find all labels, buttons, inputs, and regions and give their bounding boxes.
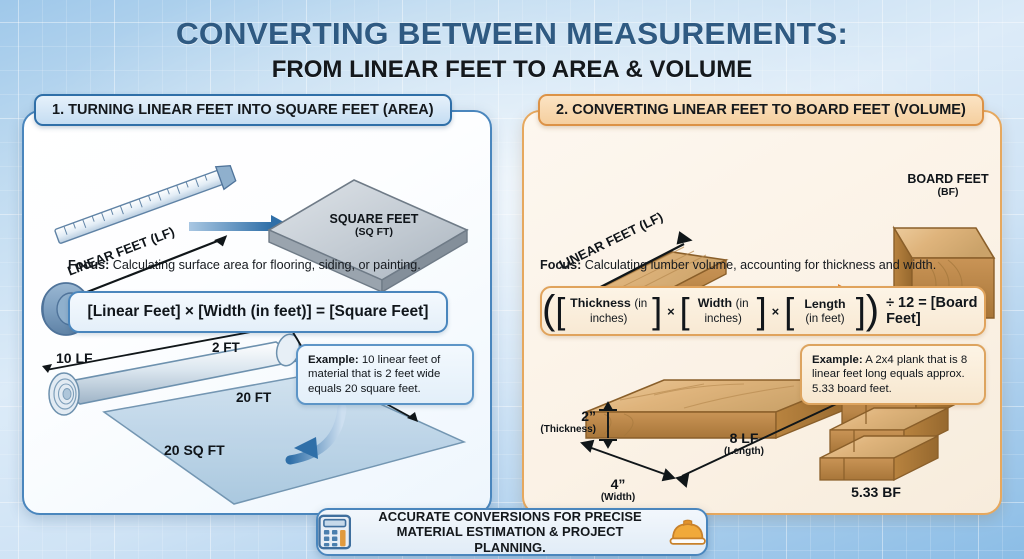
label-thickness: 2” (Thickness) bbox=[530, 408, 596, 435]
calculator-icon bbox=[318, 514, 351, 550]
panel-header-right: 2. CONVERTING LINEAR FEET TO BOARD FEET … bbox=[538, 94, 984, 126]
formula-term-width: [ Width (in inches) ] bbox=[680, 296, 767, 325]
label-2-ft: 2 FT bbox=[212, 340, 240, 355]
label-20-ft: 20 FT bbox=[236, 390, 271, 405]
page-title-main: CONVERTING BETWEEN MEASUREMENTS: bbox=[0, 16, 1024, 52]
formula-tail: ÷ 12 = [Board Feet] bbox=[879, 295, 984, 327]
focus-line-right: Focus: Calculating lumber volume, accoun… bbox=[540, 258, 936, 272]
formula-term-thickness: [ Thickness (in inches) ] bbox=[555, 296, 662, 325]
footer-badge: ACCURATE CONVERSIONS FOR PRECISE MATERIA… bbox=[316, 508, 708, 556]
formula-op-2: × bbox=[767, 304, 785, 319]
footer-text: ACCURATE CONVERSIONS FOR PRECISE MATERIA… bbox=[361, 509, 658, 556]
example-callout-area: Example: 10 linear feet of material that… bbox=[296, 344, 474, 405]
formula-area: [Linear Feet] × [Width (in feet)] = [Squ… bbox=[68, 291, 448, 333]
label-board-feet: BOARD FEET (BF) bbox=[896, 172, 1000, 198]
label-20-sq-ft: 20 SQ FT bbox=[164, 442, 225, 458]
formula-board-feet: ( [ Thickness (in inches) ] × [ Width (i… bbox=[540, 286, 986, 336]
formula-op-1: × bbox=[662, 304, 680, 319]
label-square-feet: SQUARE FEET (SQ FT) bbox=[324, 212, 424, 238]
hard-hat-icon bbox=[669, 515, 706, 549]
example-callout-volume: Example: A 2x4 plank that is 8 linear fe… bbox=[800, 344, 986, 405]
curved-arrow-blue bbox=[290, 408, 342, 460]
infographic-header: CONVERTING BETWEEN MEASUREMENTS: FROM LI… bbox=[0, 16, 1024, 84]
label-10-lf: 10 LF bbox=[56, 350, 93, 366]
formula-term-length: [ Length (in feet) ] bbox=[784, 297, 866, 326]
label-length: 8 LF (Length) bbox=[706, 430, 782, 457]
focus-line-left: Focus: Calculating surface area for floo… bbox=[68, 258, 421, 272]
page-title-sub: FROM LINEAR FEET TO AREA & VOLUME bbox=[0, 56, 1024, 84]
label-width: 4” (Width) bbox=[586, 476, 650, 503]
panel-header-left: 1. TURNING LINEAR FEET INTO SQUARE FEET … bbox=[34, 94, 452, 126]
label-533-bf: 5.33 BF bbox=[836, 484, 916, 500]
arrow-right-blue bbox=[189, 215, 291, 237]
